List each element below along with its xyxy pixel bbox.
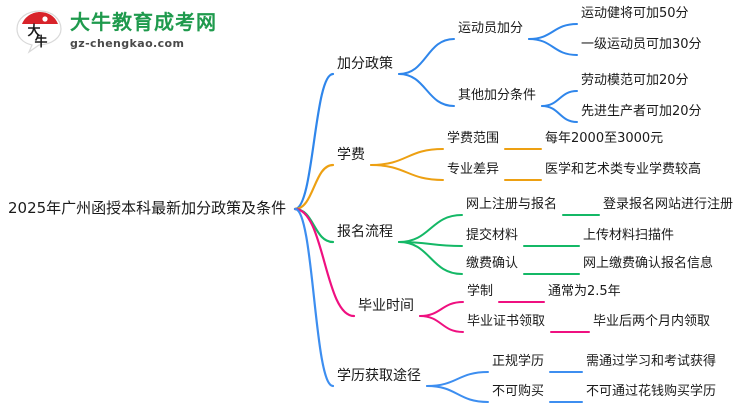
subbranch-label-3-1[interactable]: 毕业证书领取 xyxy=(467,315,545,328)
branch-label-1[interactable]: 学费 xyxy=(337,148,365,162)
subbranch-label-1-1[interactable]: 专业差异 xyxy=(447,163,499,176)
leaf-label-1-0-0[interactable]: 每年2000至3000元 xyxy=(545,132,663,145)
branch-label-4[interactable]: 学历获取途径 xyxy=(337,369,421,383)
branch-label-0[interactable]: 加分政策 xyxy=(337,57,393,71)
leaf-label-0-1-0[interactable]: 劳动模范可加20分 xyxy=(581,74,689,87)
leaf-label-0-0-0[interactable]: 运动健将可加50分 xyxy=(581,7,689,20)
leaf-label-3-1-0[interactable]: 毕业后两个月内领取 xyxy=(593,315,710,328)
subbranch-label-3-0[interactable]: 学制 xyxy=(467,285,493,298)
subbranch-label-1-0[interactable]: 学费范围 xyxy=(447,132,499,145)
leaf-label-2-2-0[interactable]: 网上缴费确认报名信息 xyxy=(583,257,713,270)
subbranch-label-0-1[interactable]: 其他加分条件 xyxy=(458,89,536,102)
leaf-label-4-1-0[interactable]: 不可通过花钱购买学历 xyxy=(586,385,716,398)
branch-label-3[interactable]: 毕业时间 xyxy=(358,299,414,313)
subbranch-label-2-1[interactable]: 提交材料 xyxy=(466,229,518,242)
leaf-label-1-1-0[interactable]: 医学和艺术类专业学费较高 xyxy=(545,163,701,176)
leaf-label-2-0-0[interactable]: 登录报名网站进行注册 xyxy=(603,198,733,211)
subbranch-label-4-0[interactable]: 正规学历 xyxy=(492,355,544,368)
leaf-label-0-1-1[interactable]: 先进生产者可加20分 xyxy=(581,105,702,118)
branch-label-2[interactable]: 报名流程 xyxy=(337,225,393,239)
subbranch-label-2-0[interactable]: 网上注册与报名 xyxy=(466,198,557,211)
subbranch-label-0-0[interactable]: 运动员加分 xyxy=(458,22,523,35)
leaf-label-2-1-0[interactable]: 上传材料扫描件 xyxy=(583,229,674,242)
subbranch-label-4-1[interactable]: 不可购买 xyxy=(492,385,544,398)
mindmap-canvas: 大 牛 大牛教育成考网 gz-chengkao.com 2025年广州函授本科最… xyxy=(0,0,750,410)
leaf-label-3-0-0[interactable]: 通常为2.5年 xyxy=(548,285,621,298)
leaf-label-4-0-0[interactable]: 需通过学习和考试获得 xyxy=(586,355,716,368)
mindmap-root-label[interactable]: 2025年广州函授本科最新加分政策及条件 xyxy=(8,201,286,216)
subbranch-label-2-2[interactable]: 缴费确认 xyxy=(466,257,518,270)
leaf-label-0-0-1[interactable]: 一级运动员可加30分 xyxy=(581,38,702,51)
